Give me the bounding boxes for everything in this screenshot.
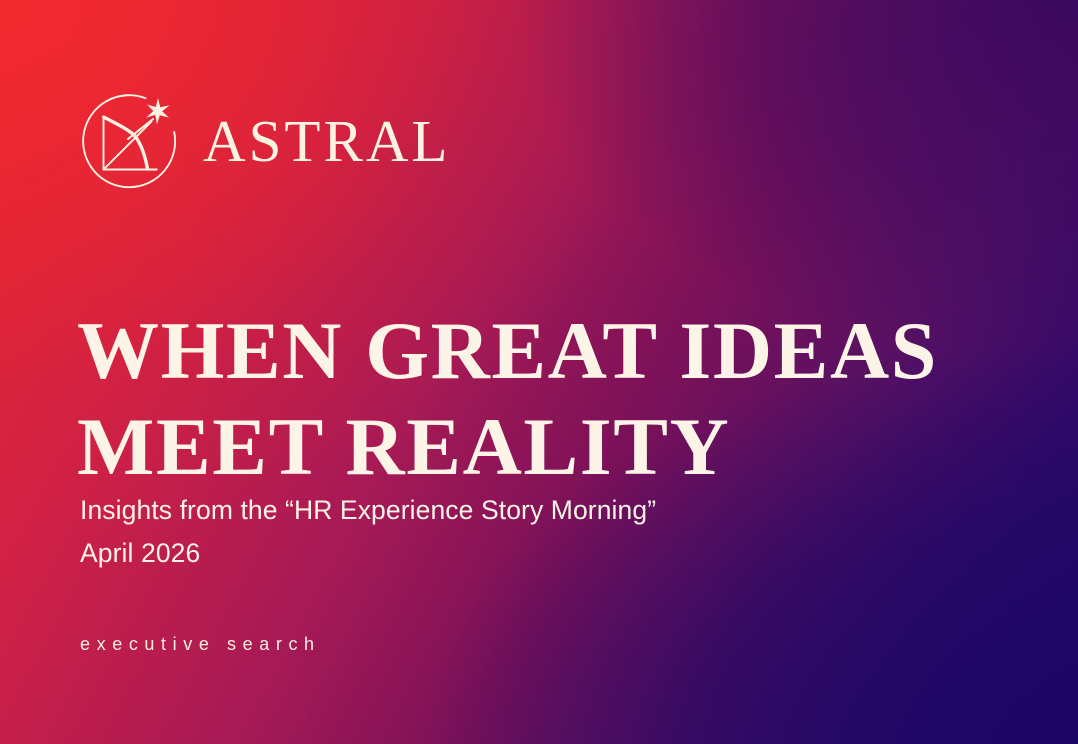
slide-subtitle: Insights from the “HR Experience Story M… — [80, 489, 940, 575]
brand-logo-lockup: ASTRAL — [79, 92, 450, 194]
brand-wordmark: ASTRAL — [203, 112, 450, 175]
title-slide: ASTRAL WHEN GREAT IDEAS MEET REALITY Ins… — [0, 0, 1078, 744]
brand-tagline: executive search — [80, 632, 321, 656]
page-title: WHEN GREAT IDEAS MEET REALITY — [77, 303, 977, 495]
astral-bow-star-circle-logo-icon — [79, 92, 181, 194]
